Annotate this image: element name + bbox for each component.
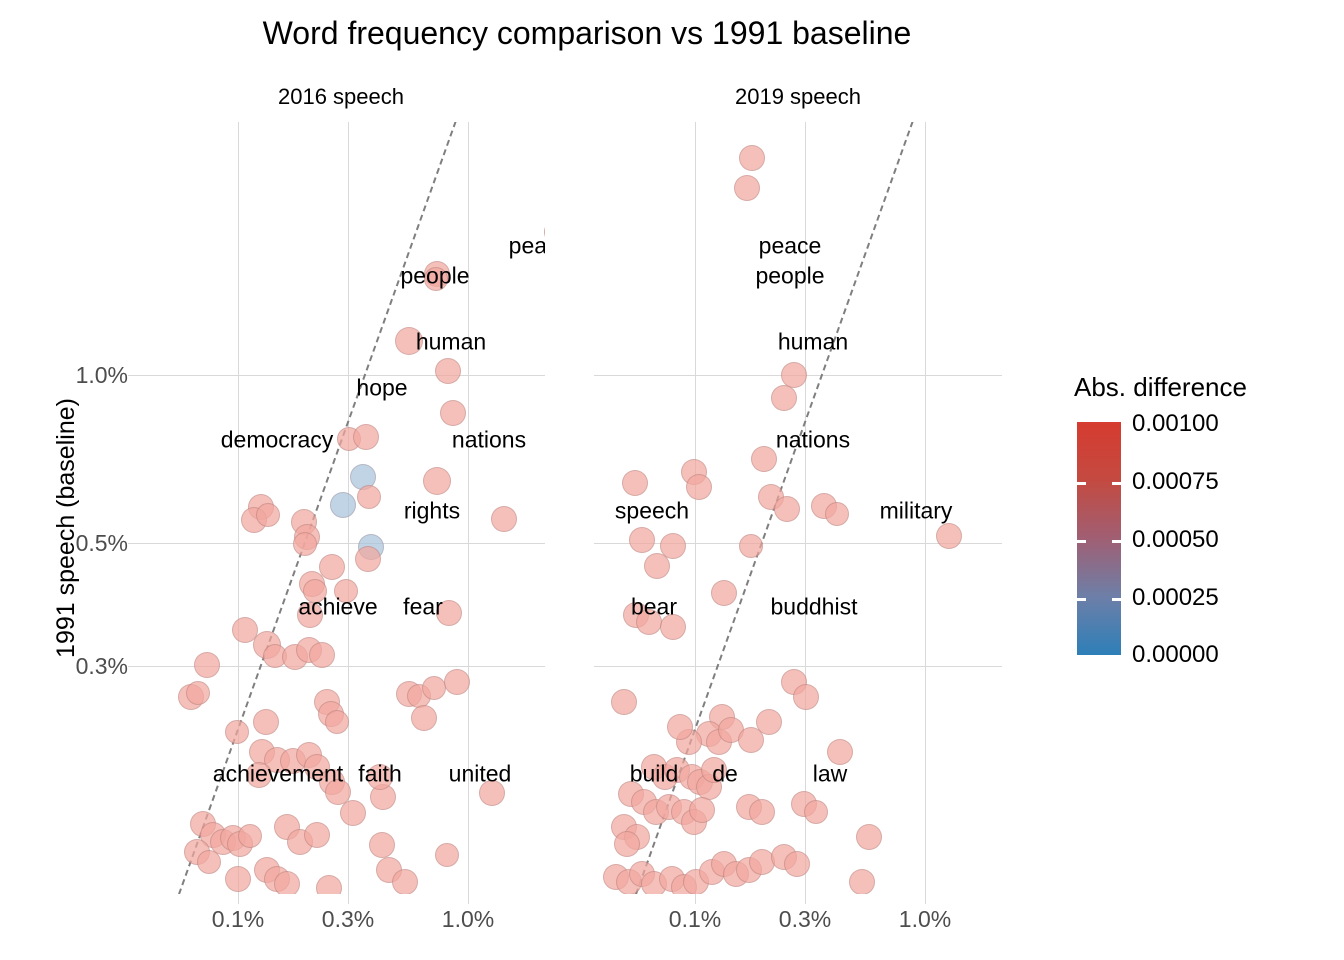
scatter-point[interactable]: [435, 358, 461, 384]
scatter-point[interactable]: [793, 684, 819, 710]
scatter-point[interactable]: [316, 875, 342, 894]
panel-strip-2019: 2019 speech: [594, 84, 1002, 110]
scatter-point[interactable]: [734, 175, 760, 201]
scatter-point[interactable]: [660, 533, 686, 559]
page-title: Word frequency comparison vs 1991 baseli…: [137, 14, 1037, 52]
word-label: law: [813, 763, 848, 786]
scatter-panel-2019: peacepeoplehumannationsspeechmilitarybea…: [594, 122, 1002, 894]
scatter-point[interactable]: [330, 492, 356, 518]
scatter-point[interactable]: [686, 474, 712, 500]
horizontal-gridline: [594, 666, 1002, 667]
scatter-point[interactable]: [784, 851, 810, 877]
scatter-point[interactable]: [274, 871, 300, 894]
colorbar-tick-label: 0.00100: [1132, 412, 1219, 436]
colorbar-tick-mark: [1077, 540, 1086, 543]
colorbar-tick-label: 0.00025: [1132, 586, 1219, 610]
scatter-point[interactable]: [238, 824, 262, 848]
x-tick-mark: [238, 894, 239, 904]
x-tick-label: 0.3%: [303, 908, 393, 931]
scatter-point[interactable]: [444, 669, 470, 695]
x-tick-mark: [695, 894, 696, 904]
horizontal-gridline: [137, 375, 545, 376]
scatter-point[interactable]: [232, 617, 258, 643]
colorbar-tick-mark: [1112, 655, 1121, 658]
scatter-point[interactable]: [804, 800, 828, 824]
word-label: de: [712, 763, 738, 786]
x-tick-label: 0.1%: [650, 908, 740, 931]
scatter-point[interactable]: [756, 709, 782, 735]
scatter-point[interactable]: [225, 866, 251, 892]
scatter-point[interactable]: [667, 714, 693, 740]
scatter-point[interactable]: [856, 824, 882, 850]
scatter-point[interactable]: [825, 502, 849, 526]
word-label: build: [630, 763, 679, 786]
scatter-point[interactable]: [325, 710, 349, 734]
colorbar-gradient: [1077, 422, 1121, 655]
colorbar-tick-label: 0.00000: [1132, 643, 1219, 667]
scatter-point[interactable]: [340, 800, 366, 826]
scatter-point[interactable]: [423, 467, 451, 495]
scatter-point[interactable]: [771, 385, 797, 411]
scatter-point[interactable]: [256, 503, 280, 527]
scatter-point[interactable]: [197, 850, 221, 874]
panel-strip-2016: 2016 speech: [137, 84, 545, 110]
scatter-point[interactable]: [304, 822, 330, 848]
x-tick-mark: [468, 894, 469, 904]
word-label: achieve: [298, 596, 377, 619]
word-label: peace: [759, 235, 822, 258]
scatter-point[interactable]: [355, 546, 381, 572]
x-tick-label: 1.0%: [880, 908, 970, 931]
scatter-point[interactable]: [614, 831, 640, 857]
scatter-point[interactable]: [849, 869, 875, 894]
colorbar-tick-mark: [1112, 540, 1121, 543]
word-label: hope: [356, 377, 407, 400]
scatter-point[interactable]: [491, 506, 517, 532]
scatter-point[interactable]: [611, 689, 637, 715]
word-label: achievement: [213, 763, 343, 786]
scatter-point[interactable]: [739, 534, 763, 558]
word-label: united: [449, 763, 512, 786]
scatter-panel-2016: peacepeoplehumanhopedemocracynationsrigh…: [137, 122, 545, 894]
scatter-point[interactable]: [422, 676, 446, 700]
scatter-point[interactable]: [309, 642, 335, 668]
scatter-point[interactable]: [194, 652, 220, 678]
colorbar-tick-label: 0.00075: [1132, 470, 1219, 494]
x-tick-label: 0.3%: [760, 908, 850, 931]
scatter-point[interactable]: [440, 400, 466, 426]
colorbar-tick-mark: [1077, 482, 1086, 485]
scatter-point[interactable]: [293, 532, 317, 556]
word-label: democracy: [221, 429, 333, 452]
y-axis-title: 1991 speech (baseline): [52, 248, 80, 808]
scatter-point[interactable]: [774, 496, 800, 522]
word-label: people: [400, 265, 469, 288]
scatter-point[interactable]: [689, 797, 715, 823]
scatter-point[interactable]: [435, 843, 459, 867]
scatter-point[interactable]: [711, 580, 737, 606]
colorbar-tick-mark: [1077, 655, 1086, 658]
word-label: fear: [403, 596, 443, 619]
scatter-point[interactable]: [357, 485, 381, 509]
colorbar-tick-mark: [1112, 482, 1121, 485]
scatter-point[interactable]: [411, 705, 437, 731]
y-tick-label: 1.0%: [8, 364, 128, 387]
x-tick-label: 1.0%: [423, 908, 513, 931]
scatter-point[interactable]: [629, 527, 655, 553]
scatter-point[interactable]: [739, 145, 765, 171]
word-label: faith: [358, 763, 401, 786]
x-tick-mark: [805, 894, 806, 904]
scatter-point[interactable]: [253, 709, 279, 735]
x-tick-label: 0.1%: [193, 908, 283, 931]
scatter-point[interactable]: [622, 470, 648, 496]
legend-title: Abs. difference: [1074, 372, 1247, 402]
word-label: peace: [509, 235, 545, 258]
scatter-point[interactable]: [936, 523, 962, 549]
word-label: rights: [404, 500, 460, 523]
y-tick-label: 0.3%: [8, 655, 128, 678]
colorbar-tick-mark: [1077, 598, 1086, 601]
word-label: people: [755, 265, 824, 288]
scatter-point[interactable]: [751, 446, 777, 472]
scatter-point[interactable]: [225, 720, 249, 744]
word-label: nations: [776, 429, 850, 452]
scatter-point[interactable]: [749, 799, 775, 825]
scatter-point[interactable]: [186, 681, 210, 705]
scatter-point[interactable]: [353, 424, 379, 450]
scatter-point[interactable]: [369, 832, 395, 858]
scatter-point[interactable]: [392, 869, 418, 894]
word-label: military: [880, 500, 953, 523]
word-label: speech: [615, 500, 689, 523]
y-tick-label: 0.5%: [8, 532, 128, 555]
word-label: human: [416, 331, 486, 354]
x-tick-mark: [348, 894, 349, 904]
scatter-point[interactable]: [319, 554, 345, 580]
word-label: nations: [452, 429, 526, 452]
horizontal-gridline: [137, 543, 545, 544]
chart-root: Word frequency comparison vs 1991 baseli…: [0, 0, 1344, 960]
colorbar-tick-mark: [1112, 598, 1121, 601]
x-tick-mark: [925, 894, 926, 904]
word-label: human: [778, 331, 848, 354]
colorbar-tick-label: 0.00050: [1132, 528, 1219, 552]
word-label: buddhist: [771, 596, 858, 619]
word-label: bear: [631, 596, 677, 619]
